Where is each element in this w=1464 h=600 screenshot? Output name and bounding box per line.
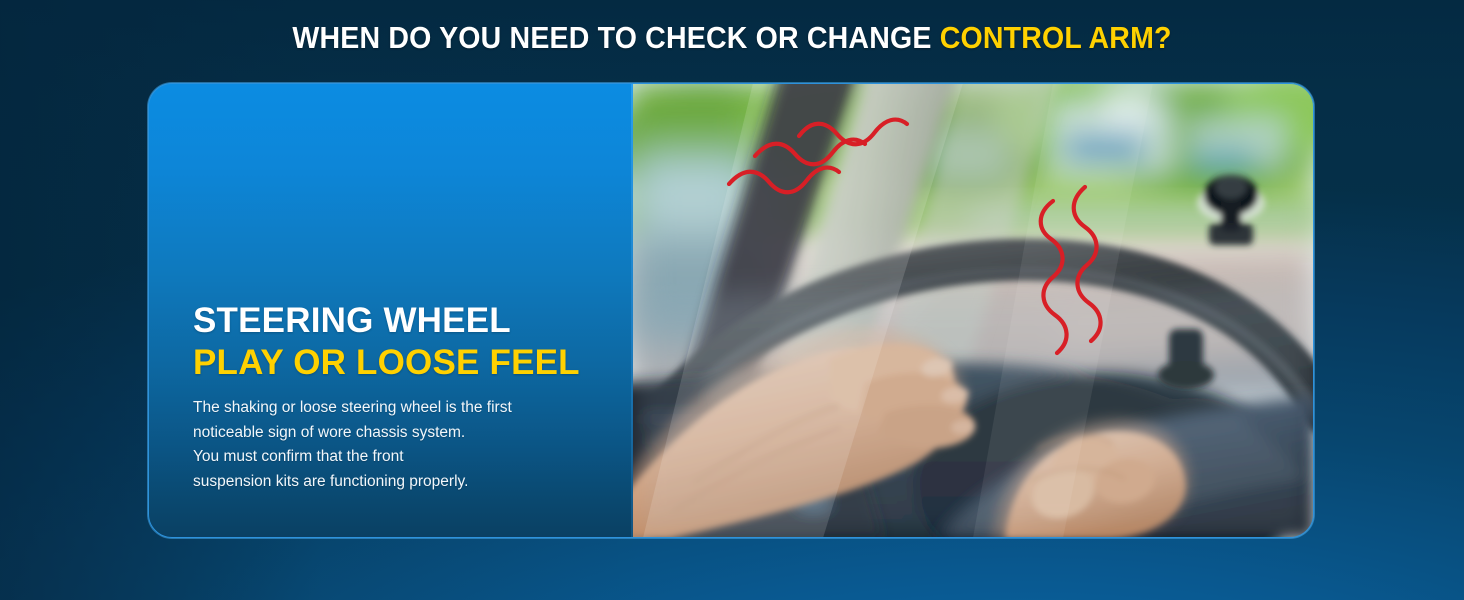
card-body-line: You must confirm that the front bbox=[193, 445, 593, 470]
card-heading-line-2: PLAY OR LOOSE FEEL bbox=[193, 342, 580, 384]
steering-wheel-photo bbox=[633, 83, 1314, 538]
page-title-accent: CONTROL ARM? bbox=[940, 20, 1172, 55]
page-title-lead: WHEN DO YOU NEED TO CHECK OR CHANGE bbox=[292, 20, 939, 55]
card-body-line: suspension kits are functioning properly… bbox=[193, 470, 593, 495]
info-card: STEERING WHEEL PLAY OR LOOSE FEEL The sh… bbox=[148, 83, 1314, 538]
card-body-text: The shaking or loose steering wheel is t… bbox=[193, 396, 593, 495]
card-body-line: The shaking or loose steering wheel is t… bbox=[193, 396, 593, 421]
card-heading: STEERING WHEEL PLAY OR LOOSE FEEL bbox=[193, 300, 580, 384]
card-body-line: noticeable sign of wore chassis system. bbox=[193, 421, 593, 446]
photo-illustration bbox=[633, 83, 1314, 538]
card-heading-line-1: STEERING WHEEL bbox=[193, 301, 511, 340]
page-title: WHEN DO YOU NEED TO CHECK OR CHANGE CONT… bbox=[59, 20, 1406, 56]
